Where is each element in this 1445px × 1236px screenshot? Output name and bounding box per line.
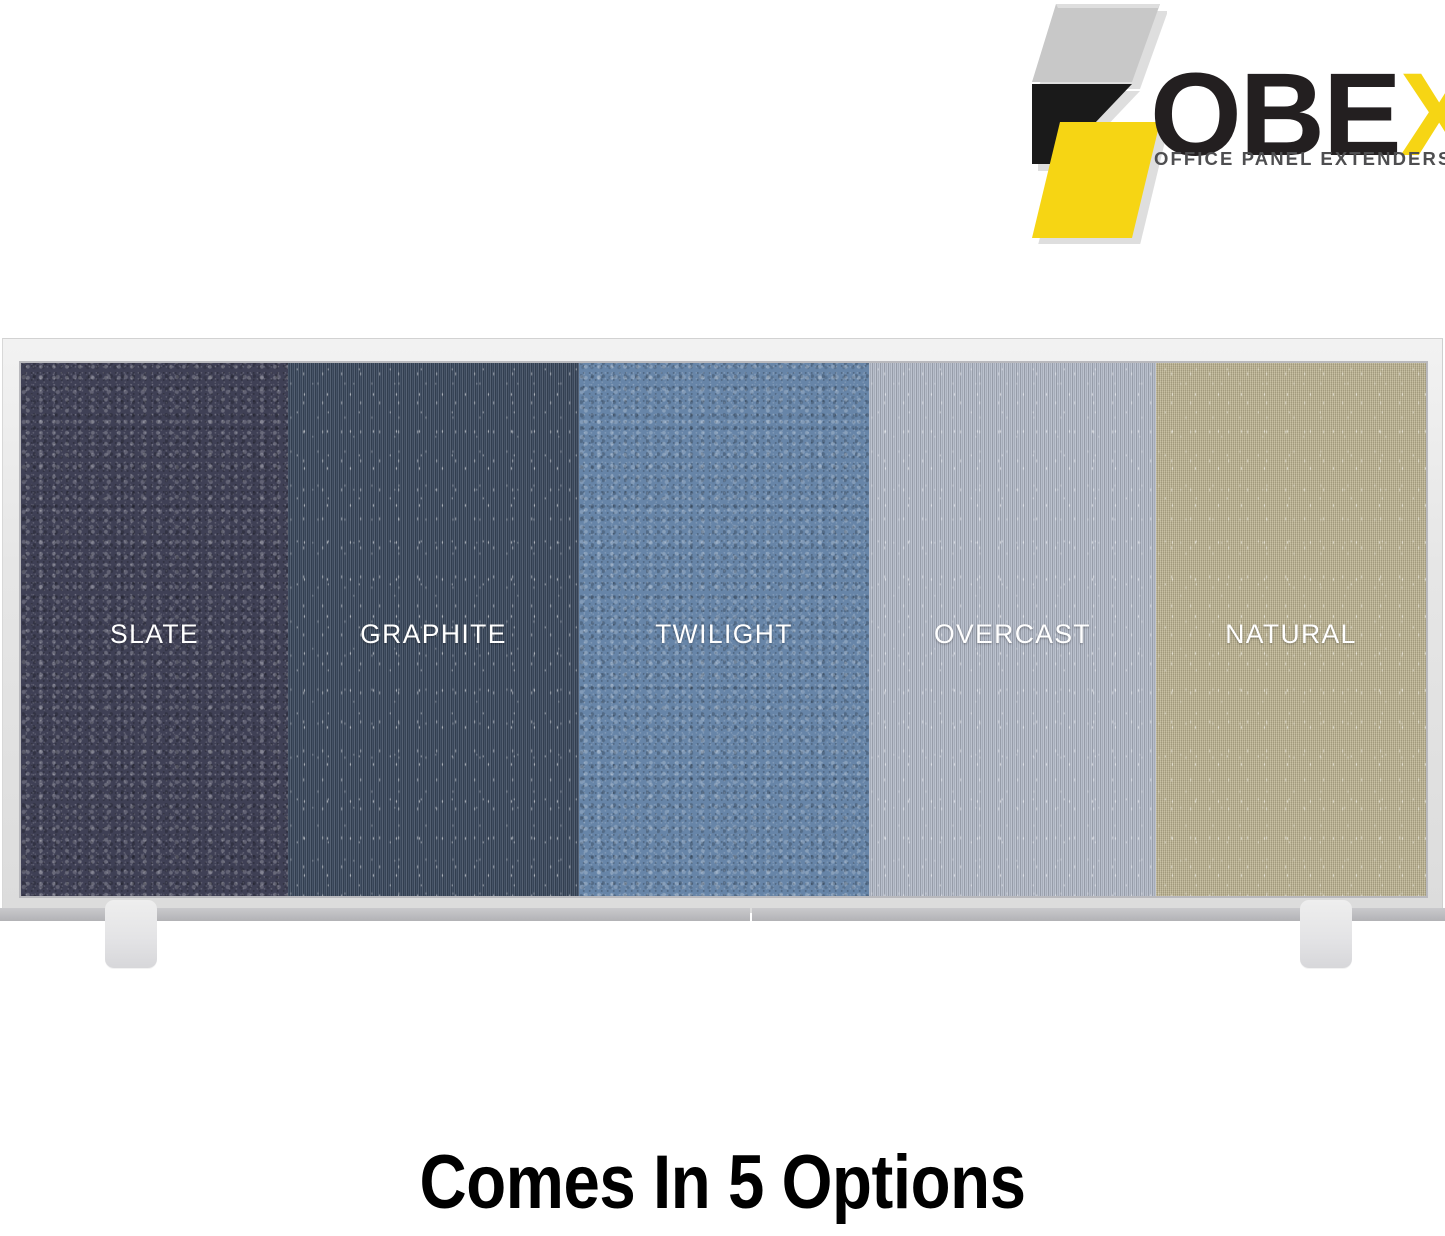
- obex-logo: OBEX OFFICE PANEL EXTENDERS: [1032, 4, 1432, 244]
- obex-wordmark: OBEX: [1150, 56, 1440, 196]
- swatch-twilight[interactable]: TWILIGHT: [579, 363, 869, 896]
- obex-chevron-mark-icon: [1032, 4, 1167, 244]
- swatch-label-graphite: GRAPHITE: [288, 619, 579, 650]
- swatch-label-slate: SLATE: [21, 619, 288, 650]
- swatch-label-natural: NATURAL: [1156, 619, 1426, 650]
- caption-text: Comes In 5 Options: [101, 1143, 1344, 1223]
- panel-mounting-foot-left: [105, 900, 157, 968]
- panel-assembly: SLATE GRAPHITE TWILIGHT OVERCAST NAT: [0, 330, 1445, 930]
- swatch-natural[interactable]: NATURAL: [1156, 363, 1426, 896]
- fabric-swatch-strip: SLATE GRAPHITE TWILIGHT OVERCAST NAT: [21, 363, 1426, 896]
- swatch-overcast[interactable]: OVERCAST: [869, 363, 1156, 896]
- panel-mounting-foot-right: [1300, 900, 1352, 968]
- swatch-slate[interactable]: SLATE: [21, 363, 288, 896]
- swatch-label-twilight: TWILIGHT: [579, 619, 869, 650]
- swatch-graphite[interactable]: GRAPHITE: [288, 363, 579, 896]
- panel-frame: SLATE GRAPHITE TWILIGHT OVERCAST NAT: [2, 338, 1443, 913]
- swatch-label-overcast: OVERCAST: [869, 619, 1156, 650]
- logo-tagline: OFFICE PANEL EXTENDERS: [1154, 148, 1445, 170]
